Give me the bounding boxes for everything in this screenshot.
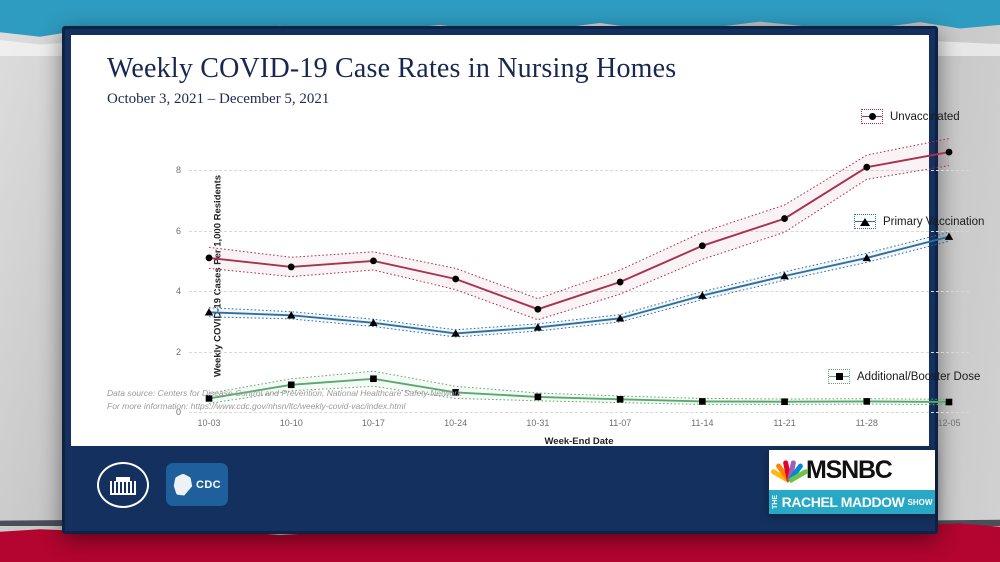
msnbc-watermark: MSNBC THE RACHEL MADDOW SHOW [769, 450, 935, 514]
data-point-marker [617, 396, 624, 403]
legend-swatch-booster-icon [828, 369, 850, 384]
page-title: Weekly COVID-19 Case Rates in Nursing Ho… [107, 53, 676, 85]
x-axis-tick-label: 10-17 [362, 418, 385, 428]
chart-footnote: Data source: Centers for Disease Control… [107, 387, 461, 413]
slide-footer: CDC MSNBC THE RACHEL MADDOW SHOW [71, 446, 929, 531]
legend-item-additional-booster-dose[interactable]: Additional/Booster Dose [828, 369, 980, 384]
footnote-data-source: Data source: Centers for Disease Control… [107, 387, 461, 400]
x-axis-ticks: 10-0310-1010-1710-2410-3111-0711-1411-21… [189, 412, 969, 430]
data-point-marker [781, 215, 788, 222]
x-axis-tick-label: 11-28 [856, 418, 878, 428]
data-point-marker [535, 394, 542, 401]
chart-panel: Weekly COVID-19 Case Rates in Nursing Ho… [71, 35, 929, 446]
x-axis-tick-label: 10-31 [526, 418, 549, 428]
x-axis-tick-label: 12-05 [937, 418, 960, 428]
data-point-marker [863, 398, 870, 405]
rachel-maddow-show-banner: THE RACHEL MADDOW SHOW [769, 490, 935, 514]
y-axis-tick-label: 8 [176, 165, 181, 175]
data-point-marker [288, 264, 295, 271]
data-point-marker [946, 399, 953, 406]
cdc-hhs-logo: CDC [166, 463, 228, 506]
hhs-bird-icon [173, 474, 193, 496]
x-axis-tick-label: 10-10 [280, 418, 303, 428]
legend-label-unvaccinated: Unvaccinated [890, 111, 960, 123]
data-point-marker [699, 242, 706, 249]
y-axis-tick-label: 4 [176, 286, 181, 296]
x-axis-tick-label: 11-07 [609, 418, 631, 428]
peacock-icon [776, 458, 801, 482]
presentation-slide: Weekly COVID-19 Case Rates in Nursing Ho… [62, 26, 938, 534]
data-point-marker [617, 279, 624, 286]
msnbc-wordmark: MSNBC [806, 456, 892, 485]
cdc-logo-label: CDC [196, 479, 221, 491]
data-point-marker [370, 257, 377, 264]
rms-the-label: THE [772, 495, 779, 509]
x-axis-tick-label: 11-14 [691, 418, 713, 428]
data-point-marker [370, 375, 377, 382]
x-axis-tick-label: 10-24 [444, 418, 467, 428]
data-point-marker [534, 306, 541, 313]
legend-swatch-unvaccinated-icon [861, 109, 883, 124]
data-point-marker [946, 149, 953, 156]
rms-name-label: RACHEL MADDOW [782, 494, 905, 510]
legend-label-additional-booster-dose: Additional/Booster Dose [857, 371, 980, 383]
y-axis-tick-label: 2 [176, 347, 181, 357]
legend-item-unvaccinated[interactable]: Unvaccinated [861, 109, 960, 124]
rms-show-label: SHOW [907, 498, 932, 507]
confidence-band [209, 139, 949, 320]
y-axis-tick-label: 6 [176, 226, 181, 236]
data-point-marker [863, 164, 870, 171]
data-point-marker [206, 254, 213, 261]
x-axis-tick-label: 11-21 [773, 418, 795, 428]
x-axis-tick-label: 10-03 [197, 418, 220, 428]
data-point-marker [781, 398, 788, 405]
data-point-marker [699, 398, 706, 405]
legend-swatch-primary-vaccination-icon [854, 214, 876, 229]
white-house-seal-icon [97, 462, 149, 508]
page-subtitle: October 3, 2021 – December 5, 2021 [107, 91, 329, 108]
legend-label-primary-vaccination: Primary Vaccination [883, 216, 984, 228]
footnote-more-information: For more information: https://www.cdc.go… [107, 400, 461, 413]
msnbc-logo-row: MSNBC [769, 450, 935, 490]
data-point-marker [452, 276, 459, 283]
legend-item-primary-vaccination[interactable]: Primary Vaccination [854, 214, 984, 229]
